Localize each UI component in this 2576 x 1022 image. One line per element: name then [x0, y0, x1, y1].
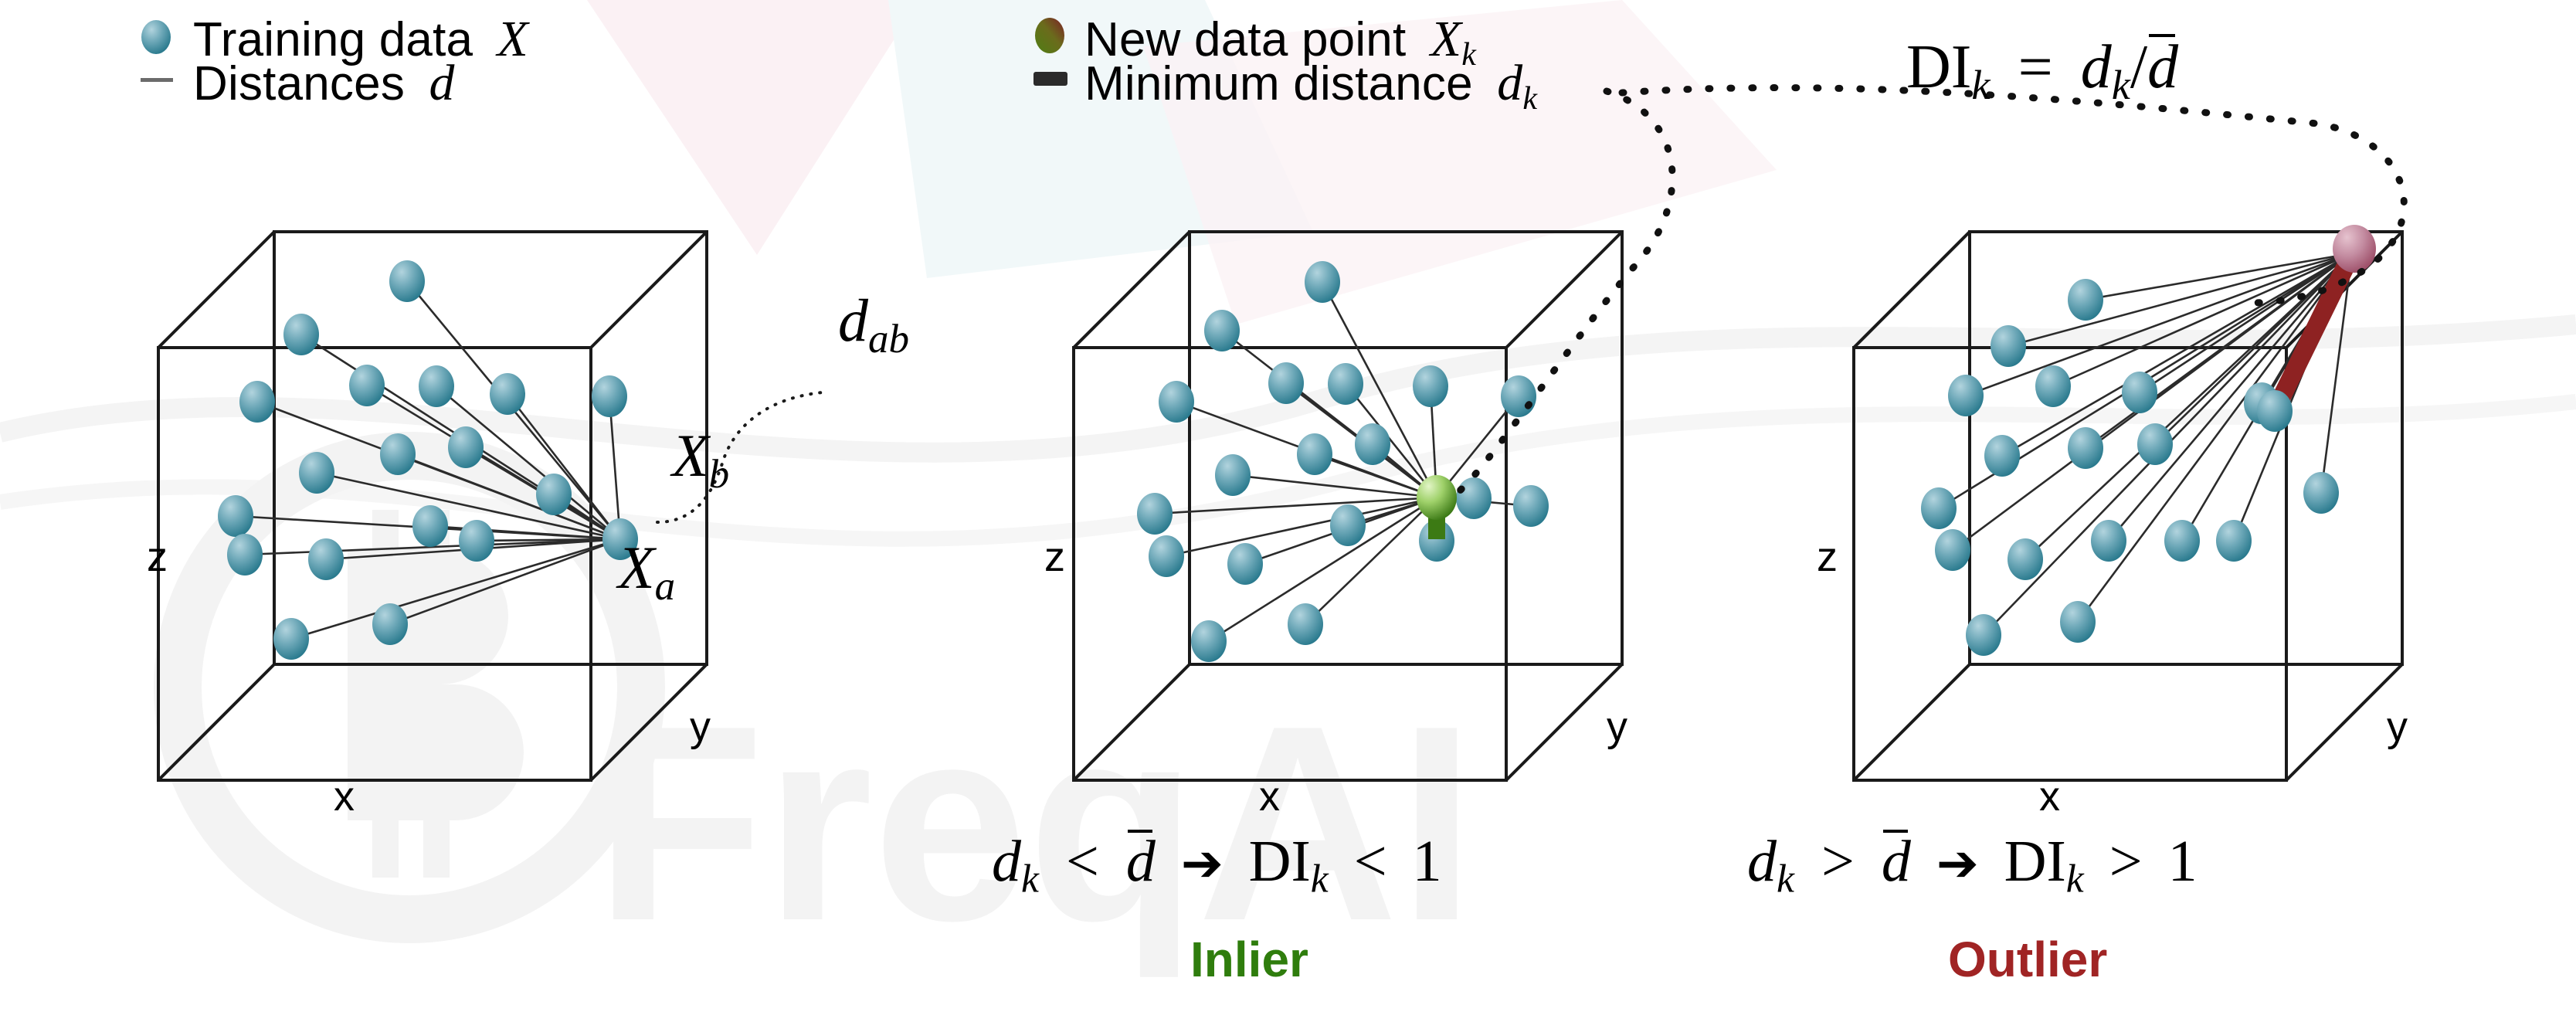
outlier-value: 1 [2168, 829, 2198, 894]
inlier-arrow: ➔ [1170, 837, 1234, 892]
di-num: d [2081, 33, 2112, 101]
point-Xk-outlier [2333, 225, 2376, 273]
cube-panel-outlier [1854, 225, 2402, 780]
legend-label-distances: Distances [193, 57, 405, 110]
label-Xa: Xa [618, 533, 675, 609]
di-slash: / [2130, 33, 2147, 101]
axis-label-z-training: z [147, 533, 168, 581]
cube-panel-inlier [1074, 232, 1622, 780]
legend-symbol-d: d [418, 55, 454, 111]
legend-marker-distance-dash [141, 78, 173, 82]
diagram-canvas: FreqAI [0, 0, 2576, 1022]
outlier-rel1: > [1809, 829, 1867, 894]
inlier-lhs: d [992, 829, 1021, 894]
verdict-outlier: Outlier [1948, 931, 2107, 988]
axis-label-y-outlier: y [2387, 703, 2408, 751]
caption-formula-outlier: dk > d ➔ DIk > 1 [1747, 828, 2198, 901]
label-dab: dab [838, 286, 909, 362]
outlier-rhs-sub: k [2066, 857, 2084, 901]
inlier-rhs-sub: k [1311, 857, 1329, 901]
outlier-arrow: ➔ [1926, 837, 1990, 892]
Xa-symbol: X [618, 534, 655, 601]
legend-symbol-dk: d [1486, 55, 1522, 111]
di-equals: = [2006, 33, 2065, 101]
outlier-mid-overbar [1883, 830, 1908, 833]
outlier-lhs-sub: k [1777, 857, 1794, 901]
inlier-rel1: < [1054, 829, 1112, 894]
di-lhs-sub: k [1971, 62, 1990, 108]
legend-symbol-dk-sub: k [1522, 80, 1537, 117]
axis-label-y-inlier: y [1607, 703, 1627, 751]
di-num-sub: k [2112, 62, 2130, 108]
inlier-lhs-sub: k [1021, 857, 1039, 901]
outlier-rhs: DI [2004, 829, 2066, 894]
training-points-training [218, 260, 638, 660]
Xb-sub: b [709, 452, 730, 497]
di-formula: DIk = dk/d [1906, 32, 2178, 109]
dab-symbol: d [838, 287, 868, 354]
inlier-value: 1 [1413, 829, 1442, 894]
outlier-lhs: d [1747, 829, 1777, 894]
outlier-rel2: > [2099, 829, 2153, 894]
inlier-mid: d [1126, 829, 1156, 894]
outlier-mid: d [1882, 829, 1911, 894]
legend-item-minimum-distance: Minimum distance dk [1084, 54, 1537, 117]
axis-label-x-outlier: x [2039, 772, 2060, 820]
legend-marker-min-distance-dash [1033, 72, 1067, 86]
legend-item-distances: Distances d [193, 54, 455, 113]
di-den: d [2147, 33, 2178, 101]
verdict-inlier: Inlier [1190, 931, 1308, 988]
di-den-overbar [2149, 34, 2175, 37]
dab-sub: ab [868, 317, 909, 362]
label-Xb: Xb [672, 421, 729, 497]
legend-symbol-X: X [487, 11, 528, 67]
axis-label-z-inlier: z [1044, 533, 1065, 581]
di-lhs: DI [1906, 33, 1971, 101]
caption-formula-inlier: dk < d ➔ DIk < 1 [992, 828, 1442, 901]
cube-panel-training [158, 232, 823, 780]
legend-marker-new-point [1035, 18, 1064, 53]
inlier-rhs: DI [1249, 829, 1311, 894]
legend-marker-training-point [141, 20, 171, 54]
axis-label-x-training: x [334, 772, 355, 820]
inlier-rel2: < [1343, 829, 1398, 894]
Xb-symbol: X [672, 422, 709, 489]
axis-label-y-training: y [690, 703, 711, 751]
Xa-sub: a [655, 564, 676, 609]
point-Xk-inlier [1417, 475, 1457, 520]
axis-label-z-outlier: z [1817, 533, 1838, 581]
inlier-mid-overbar [1128, 830, 1152, 833]
axis-label-x-inlier: x [1259, 772, 1280, 820]
legend-label-min-distance: Minimum distance [1084, 57, 1473, 110]
